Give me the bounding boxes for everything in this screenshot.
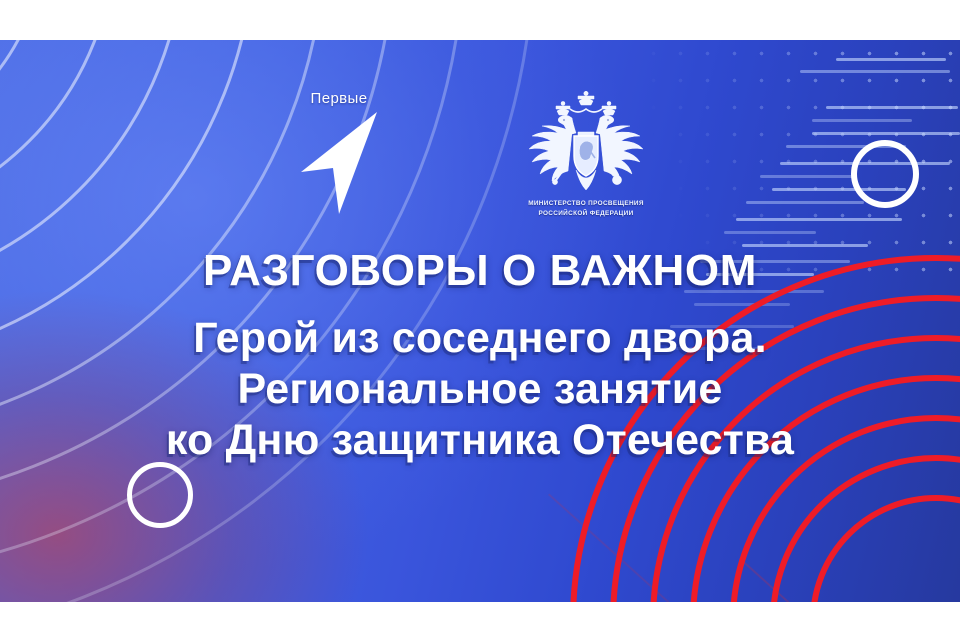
arrow-one-mark-icon — [293, 108, 385, 214]
title-block: РАЗГОВОРЫ О ВАЖНОМ Герой из соседнего дв… — [0, 245, 960, 466]
program-title: РАЗГОВОРЫ О ВАЖНОМ — [0, 245, 960, 297]
white-letterbox-bar-top — [0, 0, 960, 40]
subtitle-line-1: Герой из соседнего двора. — [0, 313, 960, 364]
pervie-logo: Первые — [279, 90, 399, 214]
ministry-caption-line1: МИНИСТЕРСТВО ПРОСВЕЩЕНИЯ — [528, 200, 644, 208]
subtitle-line-2: Региональное занятие — [0, 364, 960, 415]
outline-circle-bottom-left — [127, 462, 193, 528]
ministry-logo: МИНИСТЕРСТВО ПРОСВЕЩЕНИЯ РОССИЙСКОЙ ФЕДЕ… — [491, 90, 681, 218]
pervie-caption: Первые — [311, 90, 368, 107]
white-letterbox-bar-bottom — [0, 602, 960, 640]
double-headed-eagle-emblem-icon — [516, 90, 656, 198]
ministry-caption-line2: РОССИЙСКОЙ ФЕДЕРАЦИИ — [538, 210, 633, 218]
poster-banner: Первые — [0, 40, 960, 602]
lesson-subtitle: Герой из соседнего двора. Региональное з… — [0, 313, 960, 466]
logo-row: Первые — [0, 90, 960, 240]
subtitle-line-3: ко Дню защитника Отечества — [0, 415, 960, 466]
poster-stage: Первые — [0, 0, 960, 640]
